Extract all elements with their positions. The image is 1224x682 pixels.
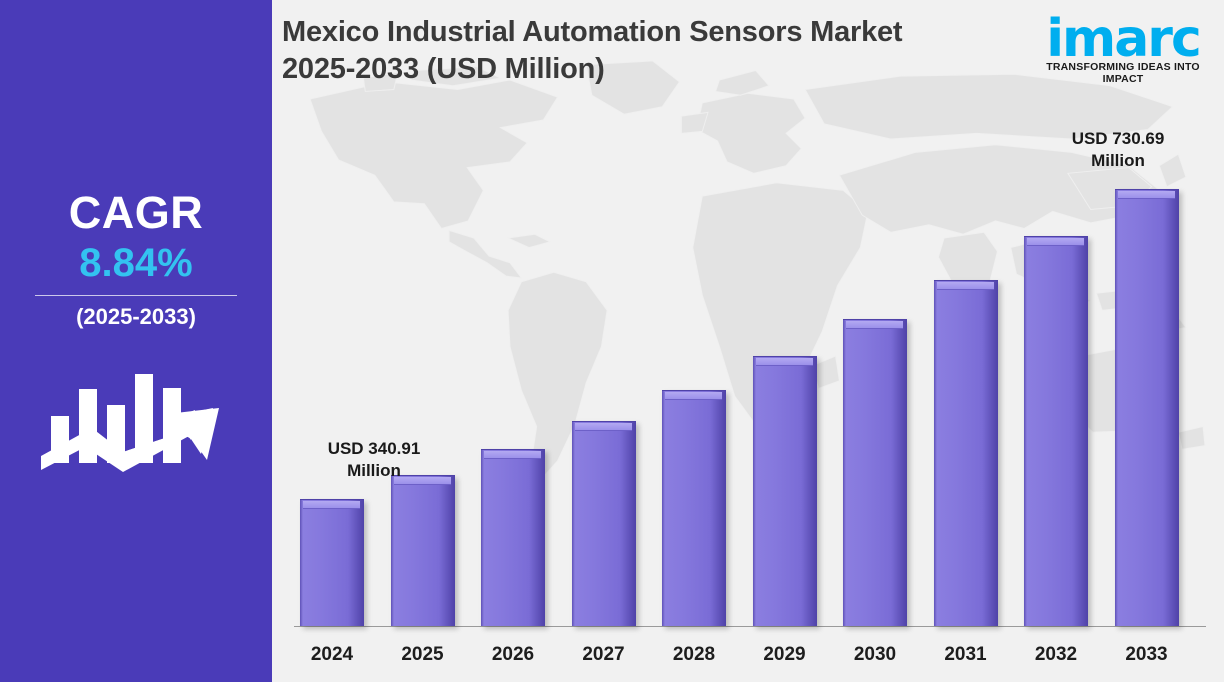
bar-top-bevel [756,358,813,366]
bar-group-2032: 2032 [1024,197,1088,626]
infographic-root: CAGR 8.84% (2025-2033) [0,0,1224,682]
growth-bar-arrow-icon [41,348,231,498]
bar-2025[interactable] [391,475,455,626]
logo-wordmark: imarc [1030,14,1216,65]
cagr-value: 8.84% [0,243,272,283]
bar-group-2028: 2028 [662,351,726,626]
bar-top-bevel [937,282,994,290]
bar-2024[interactable] [300,499,364,626]
chart-area: Mexico Industrial Automation Sensors Mar… [272,0,1224,682]
x-axis-line [294,626,1206,627]
bar-group-2033: 2033 [1115,150,1179,626]
bar-2031[interactable] [934,280,998,626]
bar-top-bevel [575,423,632,431]
x-axis-label-2030: 2030 [843,644,907,666]
bar-group-2026: 2026 [481,410,545,626]
value-label-line1: USD 730.69 [1028,128,1208,150]
bar-top-bevel [484,451,541,459]
bar-2032[interactable] [1024,236,1088,626]
bar-group-2024: 2024 [300,460,364,626]
bar-top-bevel [303,501,360,509]
x-axis-label-2025: 2025 [391,644,455,666]
bar-group-2031: 2031 [934,241,998,626]
x-axis-label-2033: 2033 [1115,644,1179,666]
imarc-logo: imarc TRANSFORMING IDEAS INTO IMPACT [1030,8,1216,86]
bar-2026[interactable] [481,449,545,626]
divider [35,295,237,296]
bar-group-2027: 2027 [572,382,636,626]
bar-top-bevel [846,321,903,329]
x-axis-label-2026: 2026 [481,644,545,666]
bar-2027[interactable] [572,421,636,626]
x-axis-label-2029: 2029 [753,644,817,666]
cagr-period: (2025-2033) [0,303,272,332]
bar-group-2030: 2030 [843,280,907,626]
cagr-panel: CAGR 8.84% (2025-2033) [0,0,272,682]
bar-group-2029: 2029 [753,317,817,626]
value-label-line1: USD 340.91 [284,438,464,460]
bar-2029[interactable] [753,356,817,626]
x-axis-label-2024: 2024 [300,644,364,666]
bar-top-bevel [1027,238,1084,246]
x-axis-label-2031: 2031 [934,644,998,666]
cagr-label: CAGR [0,190,272,235]
bar-top-bevel [1118,191,1175,199]
value-label-2024: USD 340.91 Million [284,438,464,482]
x-axis-label-2027: 2027 [572,644,636,666]
value-label-2033: USD 730.69 Million [1028,128,1208,172]
bar-2030[interactable] [843,319,907,626]
bar-2033[interactable] [1115,189,1179,626]
bar-2028[interactable] [662,390,726,626]
bar-top-bevel [665,392,722,400]
x-axis-label-2028: 2028 [662,644,726,666]
bar-chart: USD 340.91 Million USD 730.69 Million 20… [272,0,1224,682]
value-label-line2: Million [1028,150,1208,172]
x-axis-label-2032: 2032 [1024,644,1088,666]
value-label-line2: Million [284,460,464,482]
page-title: Mexico Industrial Automation Sensors Mar… [282,14,982,88]
